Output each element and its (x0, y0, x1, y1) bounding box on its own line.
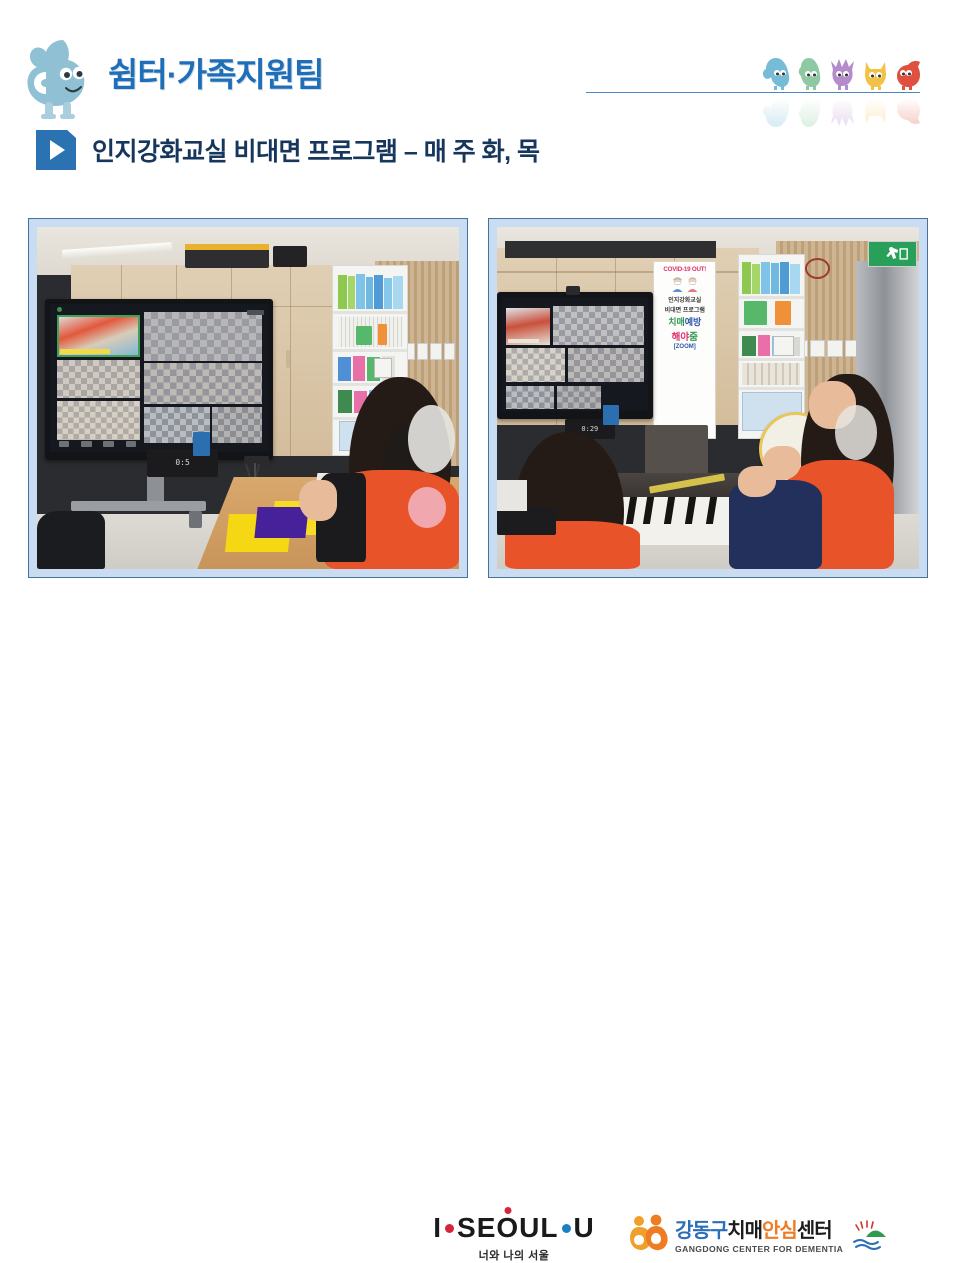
cabinet-seam (497, 271, 759, 273)
video-tile-blurred (568, 348, 644, 382)
shelf-board (739, 387, 805, 390)
instructor-hand-lower (738, 466, 776, 497)
cabinet-handle (286, 350, 290, 368)
keyboard (497, 507, 556, 534)
subtitle-row: 인지강화교실 비대면 프로그램 – 매 주 화, 목 (36, 126, 539, 174)
seoul-logo-seoul: SEOUL (457, 1212, 558, 1244)
shelf-board (739, 358, 805, 361)
gangdong-en-text: GANGDONG CENTER FOR DEMENTIA (675, 1244, 843, 1254)
desk-foreground (497, 480, 527, 511)
small-clock (374, 358, 392, 377)
binder-row (742, 261, 800, 294)
wall-clock (805, 258, 830, 279)
shelf-board (739, 328, 805, 331)
mascot-row-reflection (762, 95, 928, 129)
video-conference-monitor (45, 299, 273, 460)
gangdong-wordmark: 강동구치매안심센터 GANGDONG CENTER FOR DEMENTIA (675, 1214, 843, 1254)
banner-line-program: 비대면 프로그램 (665, 305, 705, 314)
meeting-badge (247, 310, 265, 316)
mascot-yellow-icon (861, 56, 890, 90)
mascot-yellow-reflection-icon (861, 95, 890, 129)
video-tile-blurred (57, 401, 140, 439)
slide-root: 쉼터·가족지원팀 (0, 0, 960, 720)
play-triangle-icon (36, 130, 76, 170)
subtitle-text: 인지강화교실 비대면 프로그램 – 매 주 화, 목 (92, 132, 539, 168)
gangdong-people-icon (628, 1214, 670, 1254)
video-tile-blurred (557, 386, 601, 409)
gangdong-dementia-center-logo: 강동구치매안심센터 GANGDONG CENTER FOR DEMENTIA (628, 1214, 898, 1254)
photo-frame-right: COVID-19 OUT! 인지강화교실 (488, 218, 928, 578)
gangdong-kr-text: 강동구치매안심센터 (675, 1214, 843, 1243)
photo-right: COVID-19 OUT! 인지강화교실 (497, 227, 919, 569)
staff-hand (299, 480, 337, 521)
binder-row (338, 273, 403, 309)
video-tile-blurred (144, 363, 262, 404)
video-tile-blurred (506, 386, 554, 409)
power-led (57, 307, 62, 312)
gd-kr-part2: 치매 (727, 1220, 762, 1242)
video-conference-monitor (497, 292, 653, 419)
vest-logo (408, 487, 446, 528)
webcam-secondary (603, 405, 620, 426)
seoul-dot-blue (562, 1224, 571, 1233)
banner-line-class: 인지강화교실 (668, 295, 701, 304)
emergency-exit-icon (868, 241, 916, 267)
blue-blob-mascot-icon (22, 36, 104, 120)
seoul-logo-u: U (574, 1212, 595, 1244)
seoul-dot-red-left (445, 1224, 454, 1233)
wall-switch-panel (404, 343, 455, 360)
monitor-screen (502, 297, 649, 411)
mascot-red-icon (894, 56, 923, 90)
page-footer: I SEOUL U 너와 나의 서울 강동구치매안심센터 GANGDONG CE… (0, 600, 960, 680)
gangdong-landscape-icon (852, 1217, 898, 1251)
storage-box-row (505, 241, 716, 258)
mascot-blue-reflection-icon (762, 95, 791, 129)
i-seoul-u-wordmark: I SEOUL U (424, 1212, 604, 1244)
page-title: 쉼터·가족지원팀 (108, 48, 324, 96)
mascot-purple-icon (828, 56, 857, 90)
storage-box (273, 246, 307, 267)
gd-kr-part4: 센터 (797, 1220, 832, 1242)
banner-elderly-icons (671, 276, 699, 292)
banner-line-covid: COVID-19 OUT! (663, 266, 706, 273)
monitor-caster (189, 511, 202, 528)
mascot-purple-reflection-icon (828, 95, 857, 129)
gd-kr-part3: 안심 (762, 1220, 797, 1242)
storage-basket (356, 326, 372, 345)
storage-basket (744, 301, 767, 325)
shelf-board (739, 296, 805, 299)
mascot-blue-icon (762, 56, 791, 90)
tripod-head (244, 456, 269, 466)
video-tile-blurred (506, 348, 565, 382)
seoul-logo-i: I (433, 1212, 442, 1244)
elderly-man-icon (671, 276, 684, 292)
mascot-row (762, 52, 928, 90)
pen-cup (378, 324, 387, 345)
shelf-board (333, 311, 407, 314)
video-tile-blurred (212, 407, 262, 442)
banner-line-prevention: 치매예방 (668, 315, 701, 328)
cabinet-seam (290, 265, 291, 457)
banner-line-zoom: [ZOOM] (674, 344, 696, 350)
photo-frame-left: 0:5 (28, 218, 468, 578)
electric-fan (408, 405, 454, 473)
video-tile-active (57, 315, 140, 356)
i-seoul-u-logo: I SEOUL U 너와 나의 서울 (424, 1212, 604, 1263)
mascot-red-reflection-icon (894, 95, 923, 129)
mascot-green-reflection-icon (795, 95, 824, 129)
mascot-green-icon (795, 56, 824, 90)
video-tile-active (506, 308, 550, 344)
binder-row (742, 363, 800, 385)
webcam (566, 286, 580, 295)
purple-paper (255, 507, 309, 538)
electric-fan (835, 405, 877, 460)
video-tile-blurred (144, 312, 262, 361)
program-banner: COVID-19 OUT! 인지강화교실 (653, 261, 716, 439)
video-tile-blurred (57, 360, 140, 398)
banner-line-haeyajum: 해야줌 (672, 329, 698, 343)
webcam (193, 432, 210, 456)
small-clock (773, 336, 795, 356)
seoul-logo-subtitle: 너와 나의 서울 (424, 1247, 604, 1263)
elderly-woman-icon (686, 276, 699, 292)
storage-box-label (185, 244, 269, 249)
gd-kr-part1: 강동구 (675, 1220, 727, 1242)
header-divider (586, 92, 920, 93)
monitor-screen (50, 304, 269, 452)
page-header: 쉼터·가족지원팀 (0, 0, 960, 118)
storage-basket (775, 301, 791, 325)
photo-left: 0:5 (37, 227, 459, 569)
bag-foreground (37, 511, 105, 569)
meeting-toolbar (59, 438, 190, 450)
monitor-base (71, 501, 206, 511)
video-tile-blurred (553, 306, 644, 345)
shelf-board (333, 349, 407, 352)
